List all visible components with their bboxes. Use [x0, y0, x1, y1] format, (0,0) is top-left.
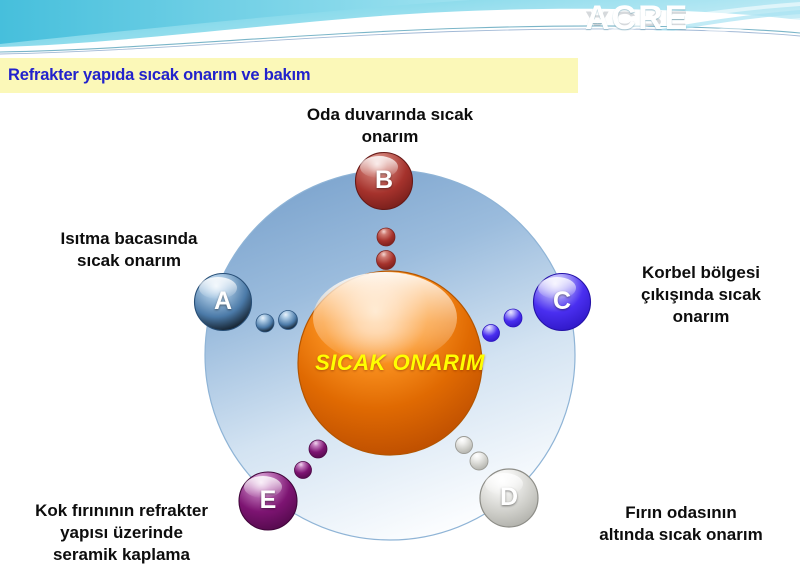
label-node-c: Korbel bölgesi çıkışında sıcak onarım — [606, 262, 796, 327]
label-node-d: Fırın odasının altında sıcak onarım — [566, 502, 796, 546]
node-sphere-e[interactable] — [239, 472, 297, 530]
node-sphere-a[interactable] — [195, 274, 252, 331]
node-sphere-b[interactable] — [356, 153, 413, 210]
node-sphere-d[interactable] — [480, 469, 538, 527]
center-sphere — [298, 271, 482, 455]
label-node-b: Oda duvarında sıcak onarım — [240, 104, 540, 148]
slide-canvas: ACRE ACRE Refrakter yapıda sıcak onarım … — [0, 0, 800, 580]
node-sphere-c[interactable] — [534, 274, 591, 331]
hot-repair-diagram: A B C D E SICAK ONARIM Oda duvarında sıc… — [0, 0, 800, 580]
acre-logo: ACRE — [585, 0, 689, 38]
label-node-a: Isıtma bacasında sıcak onarım — [14, 228, 244, 272]
label-node-e: Kok fırınının refrakter yapısı üzerinde … — [4, 500, 239, 565]
